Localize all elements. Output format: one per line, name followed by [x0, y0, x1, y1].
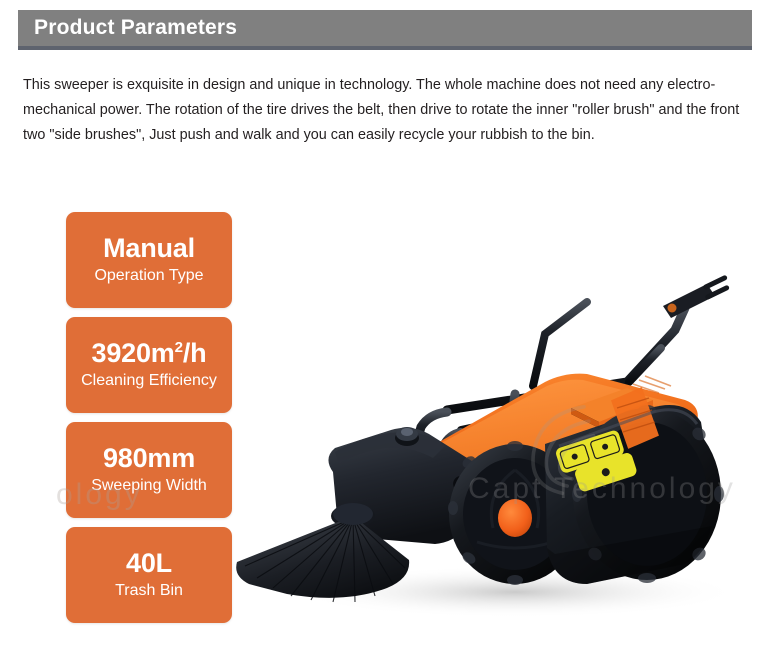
parameter-box-list: Manual Operation Type 3920m2/h Cleaning …	[66, 212, 232, 632]
parameter-value: Manual	[103, 234, 195, 263]
parameter-value: 3920m2/h	[92, 339, 207, 368]
latch-knob	[395, 427, 419, 446]
unit-superscript: 2	[175, 339, 183, 356]
intro-paragraph: This sweeper is exquisite in design and …	[23, 73, 749, 148]
parameter-box-cleaning-efficiency: 3920m2/h Cleaning Efficiency	[66, 317, 232, 413]
parameter-label: Trash Bin	[115, 581, 183, 601]
wheel-hub-cap	[498, 499, 532, 537]
parameter-value: 40L	[126, 549, 172, 578]
page-title: Product Parameters	[18, 16, 237, 40]
handle-end-bracket	[663, 275, 730, 318]
section-header-bar: Product Parameters	[18, 10, 752, 50]
parameter-label: Sweeping Width	[91, 476, 207, 496]
parameter-box-trash-bin: 40L Trash Bin	[66, 527, 232, 623]
product-parameters-page: Product Parameters This sweeper is exqui…	[0, 0, 770, 663]
product-image	[215, 262, 770, 622]
parameter-label: Cleaning Efficiency	[81, 371, 217, 391]
parameter-label: Operation Type	[94, 266, 203, 286]
parameter-box-sweeping-width: 980mm Sweeping Width	[66, 422, 232, 518]
parameter-box-operation-type: Manual Operation Type	[66, 212, 232, 308]
parameter-value: 980mm	[103, 444, 195, 473]
